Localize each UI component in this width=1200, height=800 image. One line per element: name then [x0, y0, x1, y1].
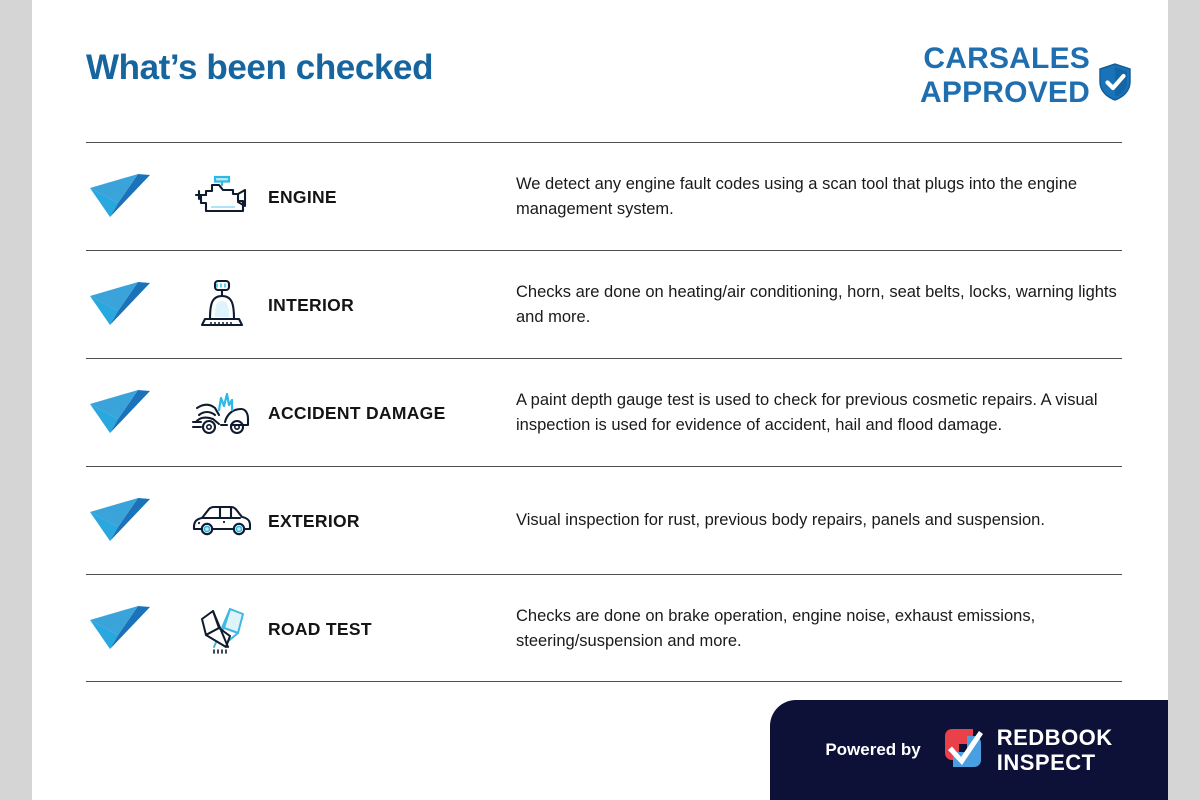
category-label: INTERIOR: [268, 251, 516, 359]
redbook-check-icon: [939, 724, 987, 777]
checklist-row-exterior: EXTERIOR Visual inspection for rust, pre…: [86, 466, 1122, 574]
content-card: What’s been checked CARSALES APPROVED: [32, 0, 1168, 800]
blue-tick-icon: [86, 359, 176, 467]
checklist-row-interior: INTERIOR Checks are done on heating/air …: [86, 250, 1122, 358]
category-label: ENGINE: [268, 143, 516, 251]
page-title: What’s been checked: [86, 48, 433, 88]
blue-tick-icon: [86, 575, 176, 683]
header: What’s been checked CARSALES APPROVED: [32, 0, 1168, 140]
category-description: Checks are done on brake operation, engi…: [516, 575, 1122, 683]
category-description: A paint depth gauge test is used to chec…: [516, 359, 1122, 467]
redbook-line: REDBOOK: [997, 727, 1113, 749]
brand-line-approved: APPROVED: [920, 78, 1090, 108]
checklist-row-engine: ENGINE We detect any engine fault codes …: [86, 142, 1122, 250]
blue-tick-icon: [86, 467, 176, 575]
powered-by-footer: Powered by REDBOOK INSPECT: [770, 700, 1168, 800]
checklist-row-road-test: ROAD TEST Checks are done on brake opera…: [86, 574, 1122, 682]
crossed-flags-icon: [176, 575, 268, 683]
blue-tick-icon: [86, 143, 176, 251]
category-label: ACCIDENT DAMAGE: [268, 359, 516, 467]
carsales-approved-badge: CARSALES APPROVED: [920, 44, 1132, 108]
car-seat-icon: [176, 251, 268, 359]
blue-tick-icon: [86, 251, 176, 359]
screenshot-root: What’s been checked CARSALES APPROVED: [0, 0, 1200, 800]
inspect-line: INSPECT: [997, 752, 1113, 774]
redbook-inspect-wordmark: REDBOOK INSPECT: [997, 727, 1113, 774]
car-side-icon: [176, 467, 268, 575]
category-label: ROAD TEST: [268, 575, 516, 683]
category-description: Checks are done on heating/air condition…: [516, 251, 1122, 359]
category-description: We detect any engine fault codes using a…: [516, 143, 1122, 251]
checklist: ENGINE We detect any engine fault codes …: [86, 142, 1122, 682]
category-label: EXTERIOR: [268, 467, 516, 575]
crashed-car-icon: [176, 359, 268, 467]
shield-check-icon: [1098, 63, 1132, 106]
powered-by-label: Powered by: [825, 740, 920, 760]
redbook-inspect-logo[interactable]: REDBOOK INSPECT: [939, 724, 1113, 777]
checklist-row-accident-damage: ACCIDENT DAMAGE A paint depth gauge test…: [86, 358, 1122, 466]
category-description: Visual inspection for rust, previous bod…: [516, 467, 1122, 575]
brand-line-carsales: CARSALES: [920, 44, 1090, 74]
carsales-approved-wordmark: CARSALES APPROVED: [920, 44, 1090, 108]
engine-icon: [176, 143, 268, 251]
